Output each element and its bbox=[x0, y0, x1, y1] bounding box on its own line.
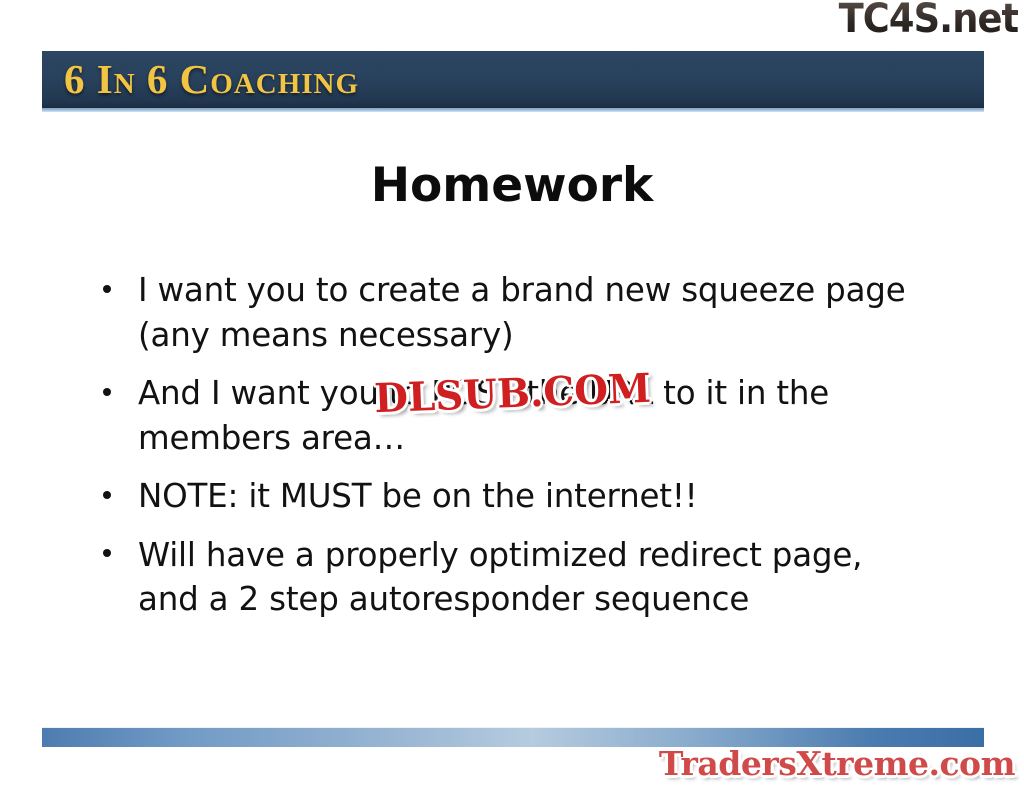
list-item: And I want you to POST the URL to it in … bbox=[98, 371, 928, 460]
list-item-text: And I want you to POST the URL to it in … bbox=[138, 374, 829, 457]
bullet-dot-icon bbox=[103, 549, 111, 557]
banner-title: 6 In 6 Coaching bbox=[64, 55, 359, 103]
tc4s-site-logo: TC4S.net bbox=[838, 0, 1018, 40]
list-item: NOTE: it MUST be on the internet!! bbox=[98, 474, 928, 519]
list-item: Will have a properly optimized redirect … bbox=[98, 533, 928, 622]
bullet-list: I want you to create a brand new squeeze… bbox=[98, 268, 928, 636]
tradersxtreme-footer-logo: TradersXtreme.com bbox=[659, 744, 1015, 783]
bullet-dot-icon bbox=[103, 285, 111, 293]
list-item-text: I want you to create a brand new squeeze… bbox=[138, 271, 906, 354]
header-banner: 6 In 6 Coaching bbox=[42, 51, 984, 108]
bullet-dot-icon bbox=[103, 388, 111, 396]
list-item-text: Will have a properly optimized redirect … bbox=[138, 536, 862, 619]
presentation-slide: TC4S.net 6 In 6 Coaching Homework I want… bbox=[0, 0, 1024, 791]
list-item-text: NOTE: it MUST be on the internet!! bbox=[138, 477, 698, 515]
bullet-dot-icon bbox=[103, 491, 111, 499]
list-item: I want you to create a brand new squeeze… bbox=[98, 268, 928, 357]
page-title: Homework bbox=[0, 158, 1024, 213]
